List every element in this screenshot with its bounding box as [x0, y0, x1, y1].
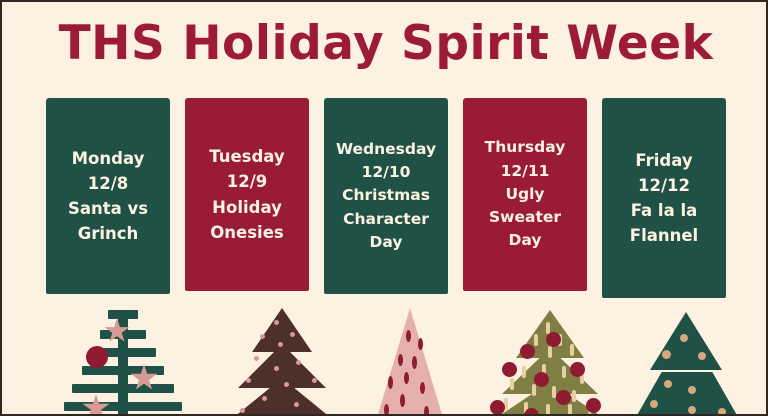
- card-line-day: Monday: [72, 146, 145, 171]
- page-title: THS Holiday Spirit Week: [2, 18, 768, 71]
- card-line-date: 12/12: [638, 173, 690, 198]
- bauble-ornament-icon: [534, 372, 549, 387]
- bauble-ornament-icon: [570, 362, 585, 377]
- card-line-theme-2: Grinch: [78, 221, 139, 246]
- card-line-day: Tuesday: [209, 144, 284, 169]
- card-line-theme-2: Onesies: [210, 220, 283, 245]
- star-ornament-icon: [82, 394, 110, 416]
- holiday-spirit-week-poster: THS Holiday Spirit Week Monday 12/8 Sant…: [0, 0, 768, 416]
- christmas-tree-icon-5: [632, 306, 742, 416]
- card-line-theme-2: Character: [343, 208, 429, 231]
- christmas-tree-icon-4: [490, 306, 610, 416]
- card-line-date: 12/11: [501, 160, 550, 183]
- spirit-day-card-tuesday[interactable]: Tuesday 12/9 Holiday Onesies: [185, 98, 309, 291]
- card-line-theme-2: Sweater: [489, 206, 561, 229]
- card-line-day: Wednesday: [336, 138, 436, 161]
- spirit-week-card-row: Monday 12/8 Santa vs Grinch Tuesday 12/9…: [46, 98, 726, 298]
- bauble-ornament-icon: [556, 390, 571, 405]
- card-line-theme-1: Christmas: [342, 184, 430, 207]
- bauble-ornament-icon: [502, 362, 517, 377]
- card-line-date: 12/10: [362, 161, 411, 184]
- christmas-tree-icon-1: [58, 306, 188, 416]
- card-line-day: Thursday: [485, 136, 566, 159]
- bauble-ornament-icon: [546, 332, 561, 347]
- decorative-tree-strip: [2, 302, 768, 416]
- card-line-theme-3: Day: [370, 231, 403, 254]
- christmas-tree-icon-3: [364, 308, 456, 416]
- spirit-day-card-thursday[interactable]: Thursday 12/11 Ugly Sweater Day: [463, 98, 587, 291]
- card-line-day: Friday: [635, 148, 692, 173]
- card-line-theme-2: Flannel: [630, 223, 698, 248]
- spirit-day-card-friday[interactable]: Friday 12/12 Fa la la Flannel: [602, 98, 726, 298]
- bauble-ornament-icon: [86, 346, 108, 368]
- bauble-ornament-icon: [490, 400, 505, 415]
- bauble-ornament-icon: [586, 398, 601, 413]
- card-line-theme-1: Ugly: [505, 183, 544, 206]
- christmas-tree-icon-2: [228, 308, 336, 416]
- card-line-theme-1: Fa la la: [631, 198, 698, 223]
- card-line-date: 12/8: [88, 171, 128, 196]
- card-line-theme-1: Holiday: [212, 195, 282, 220]
- spirit-day-card-wednesday[interactable]: Wednesday 12/10 Christmas Character Day: [324, 98, 448, 294]
- card-line-theme-3: Day: [509, 229, 542, 252]
- bauble-ornament-icon: [520, 344, 535, 359]
- card-line-date: 12/9: [227, 169, 267, 194]
- spirit-day-card-monday[interactable]: Monday 12/8 Santa vs Grinch: [46, 98, 170, 294]
- bauble-ornament-icon: [524, 408, 539, 416]
- card-line-theme-1: Santa vs: [68, 196, 148, 221]
